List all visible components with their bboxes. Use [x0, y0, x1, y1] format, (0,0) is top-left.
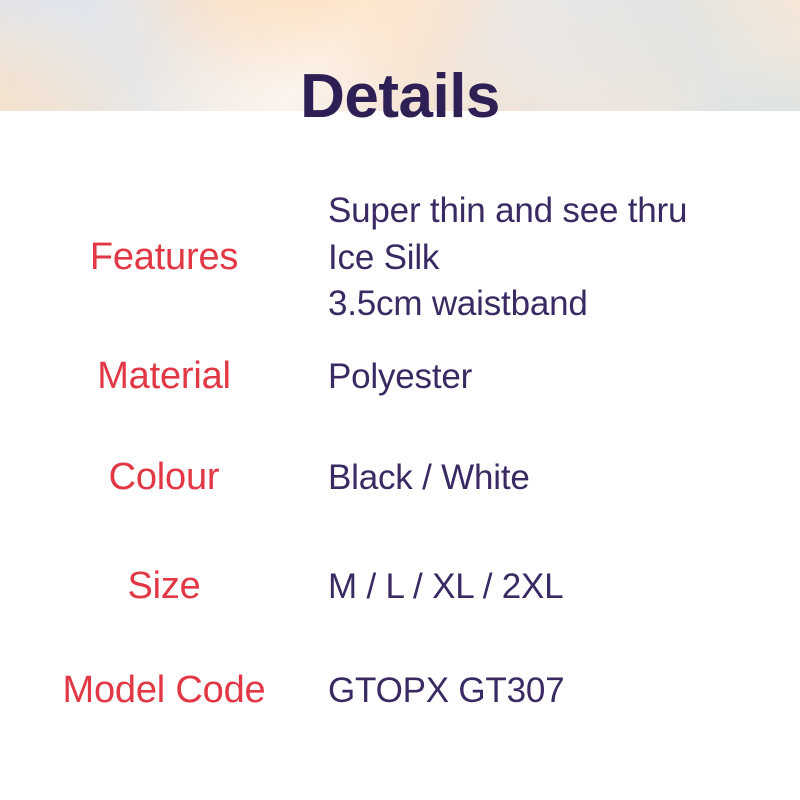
spec-row-model-code: Model Code GTOPX GT307	[0, 668, 800, 715]
spec-row-material: Material Polyester	[0, 354, 800, 401]
spec-value-features: Super thin and see thru Ice Silk 3.5cm w…	[328, 188, 800, 328]
spec-value-material: Polyester	[328, 354, 800, 401]
spec-value-size: M / L / XL / 2XL	[328, 564, 800, 611]
spec-value-line: Black / White	[328, 455, 800, 502]
spec-value-line: Polyester	[328, 354, 800, 401]
spec-value-line: M / L / XL / 2XL	[328, 564, 800, 611]
spec-value-model-code: GTOPX GT307	[328, 668, 800, 715]
spec-value-colour: Black / White	[328, 455, 800, 502]
details-page: Details Features Super thin and see thru…	[0, 0, 800, 800]
spec-label-material: Material	[0, 355, 328, 399]
spec-label-colour: Colour	[0, 456, 328, 500]
page-title: Details	[0, 42, 800, 153]
spec-label-size: Size	[0, 565, 328, 609]
spec-value-line: GTOPX GT307	[328, 668, 800, 715]
spec-value-line: Ice Silk	[328, 235, 800, 282]
spec-label-features: Features	[0, 236, 328, 280]
spec-row-features: Features Super thin and see thru Ice Sil…	[0, 188, 800, 328]
spec-row-colour: Colour Black / White	[0, 455, 800, 502]
spec-label-model-code: Model Code	[0, 669, 328, 713]
spec-value-line: Super thin and see thru	[328, 188, 800, 235]
spec-row-size: Size M / L / XL / 2XL	[0, 564, 800, 611]
spec-value-line: 3.5cm waistband	[328, 281, 800, 328]
